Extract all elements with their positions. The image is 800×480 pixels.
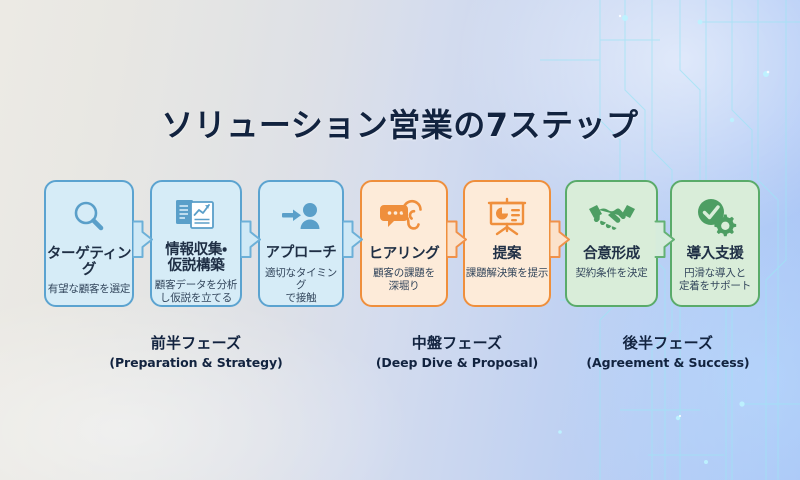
presentation-chart-icon <box>484 191 530 243</box>
step-subtitle: 契約条件を決定 <box>575 267 647 280</box>
step-subtitle: 課題解決策を提示 <box>466 267 548 280</box>
step-subtitle-line-2: で接触 <box>286 292 317 304</box>
speech-ear-icon <box>380 191 428 243</box>
step-subtitle: 円滑な導入と 定着をサポート <box>679 267 751 293</box>
step-subtitle-line-2: 定着をサポート <box>679 280 751 292</box>
step-title-line-2: 仮説構築 <box>168 258 225 274</box>
step-subtitle-line-1: 顧客データを分析 <box>155 279 237 291</box>
step-subtitle-line-1: 顧客の課題を <box>373 267 435 279</box>
step-title-line-1: 情報収集・ <box>165 242 226 258</box>
step-title: 合意形成 <box>583 246 640 262</box>
magnifier-icon <box>69 191 109 243</box>
phase-label-2: 中盤フェーズ (Deep Dive & Proposal) <box>352 332 562 370</box>
step-subtitle-line-1: 適切なタイミング <box>265 267 337 292</box>
phase-title-en: (Agreement & Success) <box>558 355 778 370</box>
step-card-5[interactable]: 提案 課題解決策を提示 <box>463 180 551 307</box>
step-title: 情報収集・ 仮説構築 <box>165 242 226 274</box>
step-subtitle: 顧客の課題を 深堀り <box>373 267 435 293</box>
handshake-icon <box>586 191 638 243</box>
step-card-1[interactable]: ターゲティング 有望な顧客を選定 <box>44 180 134 307</box>
documents-chart-icon <box>172 191 220 239</box>
page-title: ソリューション営業の7ステップ <box>0 100 800 146</box>
step-subtitle: 適切なタイミング で接触 <box>260 267 342 305</box>
phase-title-en: (Deep Dive & Proposal) <box>352 355 562 370</box>
step-card-3[interactable]: アプローチ 適切なタイミング で接触 <box>258 180 344 307</box>
phase-title-en: (Preparation & Strategy) <box>96 355 296 370</box>
phase-title-ja: 前半フェーズ <box>96 332 296 353</box>
step-card-7[interactable]: 導入支援 円滑な導入と 定着をサポート <box>670 180 760 307</box>
step-card-6[interactable]: 合意形成 契約条件を決定 <box>565 180 658 307</box>
person-arrow-icon <box>278 191 324 242</box>
phase-title-ja: 後半フェーズ <box>558 332 778 353</box>
step-subtitle-line-2: し仮説を立てる <box>160 292 232 304</box>
phase-label-3: 後半フェーズ (Agreement & Success) <box>558 332 778 370</box>
phase-title-ja: 中盤フェーズ <box>352 332 562 353</box>
step-subtitle: 顧客データを分析 し仮説を立てる <box>155 279 237 305</box>
step-card-4[interactable]: ヒアリング 顧客の課題を 深堀り <box>360 180 448 307</box>
step-subtitle-line-2: 深堀り <box>389 280 420 292</box>
step-title: ターゲティング <box>46 246 132 278</box>
step-card-2[interactable]: 情報収集・ 仮説構築 顧客データを分析 し仮説を立てる <box>150 180 242 307</box>
step-title: 導入支援 <box>687 246 744 262</box>
step-title: アプローチ <box>266 245 337 261</box>
check-gear-icon <box>692 191 738 243</box>
step-title: ヒアリング <box>369 246 440 262</box>
step-title: 提案 <box>493 246 521 262</box>
step-subtitle: 有望な顧客を選定 <box>48 283 130 296</box>
phase-label-1: 前半フェーズ (Preparation & Strategy) <box>96 332 296 370</box>
slide-canvas: ソリューション営業の7ステップ ターゲティング 有望な顧客を選定 <box>0 0 800 480</box>
step-subtitle-line-1: 円滑な導入と <box>684 267 746 279</box>
